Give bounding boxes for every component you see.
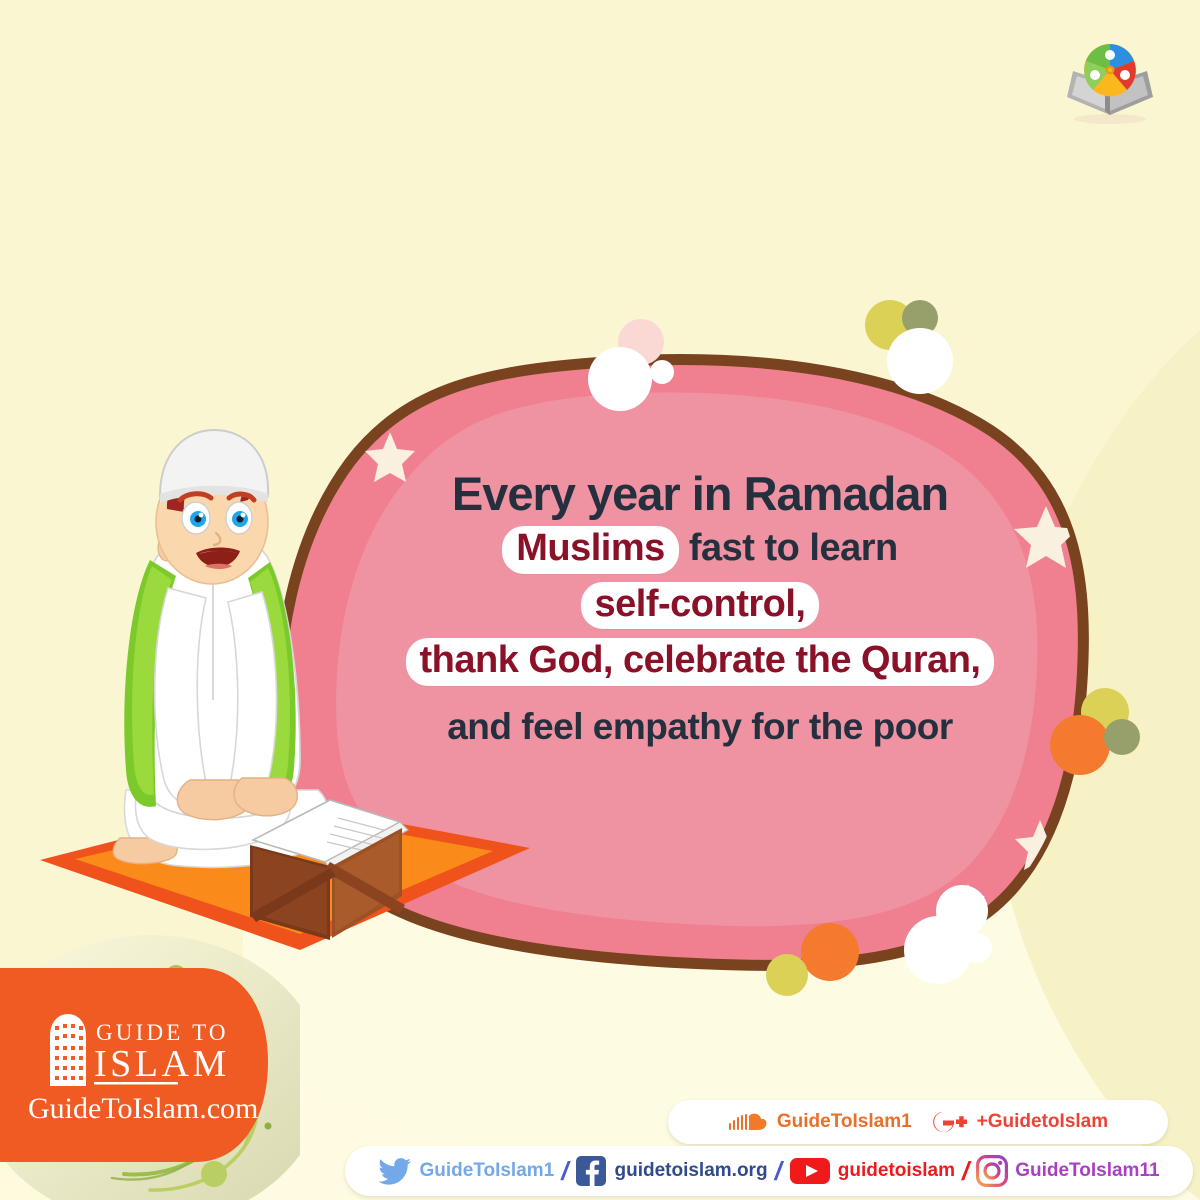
- facebook-icon: [575, 1155, 607, 1187]
- twitter-icon: [378, 1157, 412, 1185]
- instagram-label: GuideToIslam11: [1015, 1160, 1159, 1182]
- brand-line-1: GUIDE TO: [96, 1020, 229, 1045]
- brand-line-2: ISLAM: [94, 1043, 230, 1085]
- social-bar: GuideToIslam1 / guidetoislam.org / guide…: [345, 1146, 1193, 1196]
- google-plus-icon: [930, 1108, 968, 1136]
- globe-on-open-book-logo[interactable]: [1055, 35, 1165, 130]
- separator-2: /: [775, 1156, 782, 1187]
- brand-website: GuideToIslam.com: [28, 1092, 258, 1125]
- instagram-link[interactable]: GuideToIslam11: [976, 1155, 1159, 1187]
- twitter-label: GuideToIslam1: [419, 1160, 554, 1182]
- separator-3: /: [962, 1156, 969, 1187]
- google-plus-link[interactable]: +GuidetoIslam: [930, 1108, 1108, 1136]
- separator-1: /: [561, 1156, 568, 1187]
- audio-social-bar: GuideToIslam1 +GuidetoIslam: [668, 1100, 1168, 1144]
- facebook-label: guidetoislam.org: [614, 1160, 767, 1182]
- youtube-label: guidetoislam: [838, 1160, 955, 1182]
- youtube-icon: [789, 1156, 831, 1186]
- soundcloud-label: GuideToIslam1: [777, 1111, 912, 1133]
- twitter-link[interactable]: GuideToIslam1: [378, 1157, 554, 1185]
- youtube-link[interactable]: guidetoislam: [789, 1156, 955, 1186]
- google-plus-label: +GuidetoIslam: [977, 1111, 1108, 1133]
- guide-to-islam-brand-logo[interactable]: GUIDE TO ISLAM GuideToIslam.com: [0, 930, 300, 1200]
- poster-canvas: Every year in Ramadan Muslims fast to le…: [0, 0, 1200, 1200]
- facebook-link[interactable]: guidetoislam.org: [575, 1155, 767, 1187]
- soundcloud-icon: [728, 1110, 768, 1134]
- instagram-icon: [976, 1155, 1008, 1187]
- soundcloud-link[interactable]: GuideToIslam1: [728, 1110, 912, 1134]
